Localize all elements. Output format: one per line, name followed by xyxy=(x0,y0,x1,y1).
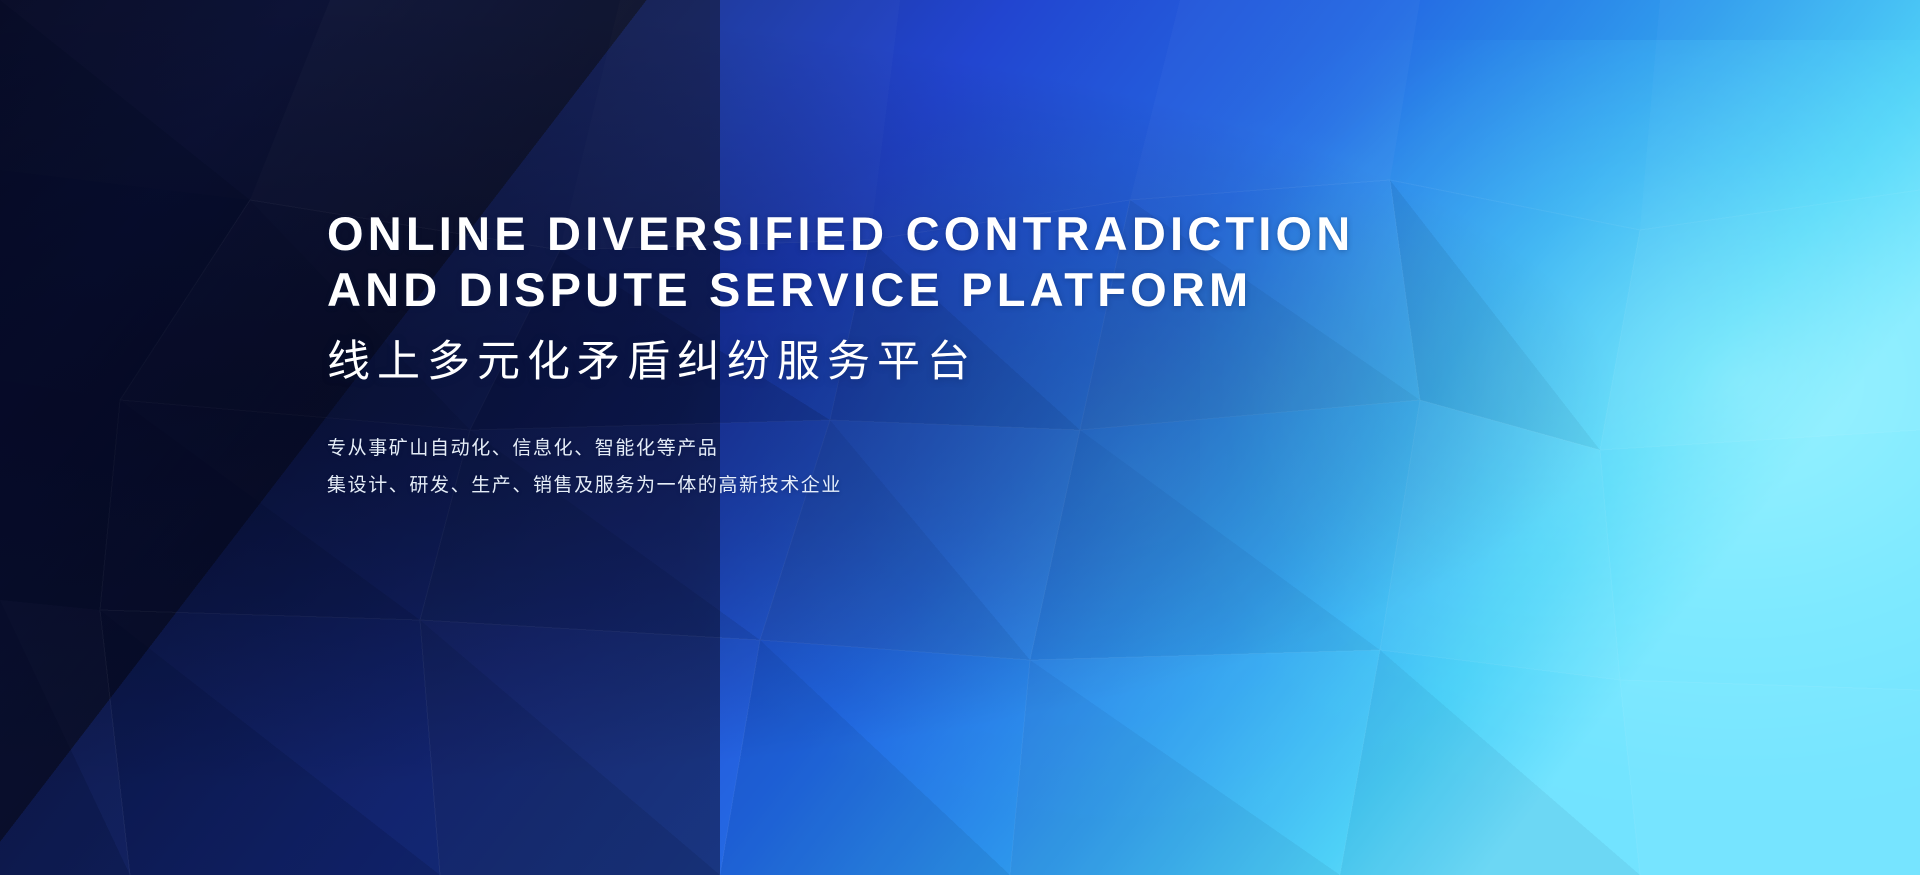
subtitle-line-2: 集设计、研发、生产、销售及服务为一体的高新技术企业 xyxy=(327,467,1667,504)
subtitle-block: 专从事矿山自动化、信息化、智能化等产品 集设计、研发、生产、销售及服务为一体的高… xyxy=(327,430,1667,504)
headline-english-line-2: AND DISPUTE SERVICE PLATFORM xyxy=(327,262,1667,318)
headline-chinese: 线上多元化矛盾纠纷服务平台 xyxy=(327,336,1667,388)
headline-english-line-1: ONLINE DIVERSIFIED CONTRADICTION xyxy=(327,206,1667,262)
subtitle-line-1: 专从事矿山自动化、信息化、智能化等产品 xyxy=(327,430,1667,467)
hero-content: ONLINE DIVERSIFIED CONTRADICTION AND DIS… xyxy=(327,206,1667,504)
hero-banner: ONLINE DIVERSIFIED CONTRADICTION AND DIS… xyxy=(0,0,1920,875)
